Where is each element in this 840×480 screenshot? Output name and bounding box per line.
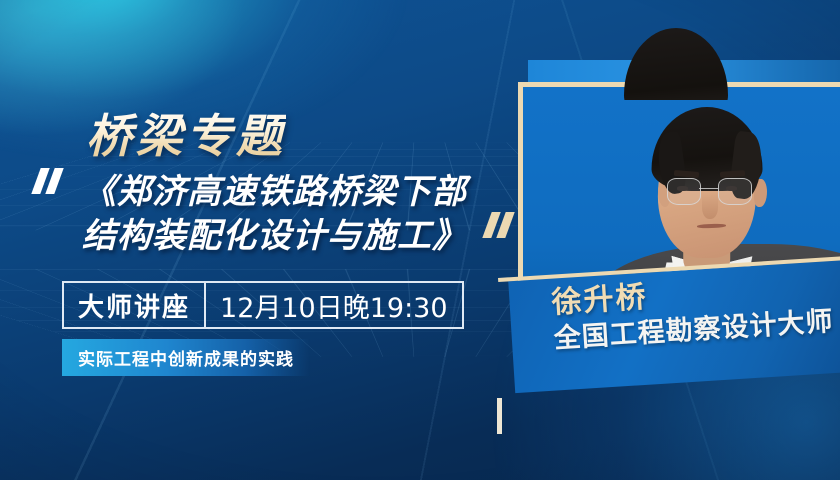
schedule-datetime: 12月10日晚19:30 [206,283,462,327]
speaker-nameplate: 徐升桥 全国工程勘察设计大师 [498,256,840,408]
lecture-subject-line-1: 《郑济高速铁路桥梁下部 [82,172,467,212]
page-title: 桥梁专题 [86,100,286,166]
quote-open-icon [36,168,66,194]
lecture-subject: 《郑济高速铁路桥梁下部 结构装配化设计与施工》 [82,170,502,258]
portrait-hair-overflow [624,28,728,100]
nameplate-edge-sliver [497,398,502,434]
schedule-bar: 大师讲座 12月10日晚19:30 [62,281,464,329]
schedule-tag: 大师讲座 [64,283,204,327]
poster-canvas: 徐升桥 全国工程勘察设计大师 桥梁专题 《郑济高速铁路桥梁下部 结构装配化设计与… [0,0,840,480]
portrait-head-overflow [615,14,737,100]
lecture-subject-line-2: 结构装配化设计与施工》 [82,214,502,258]
tagline-banner: 实际工程中创新成果的实践 [62,339,310,376]
